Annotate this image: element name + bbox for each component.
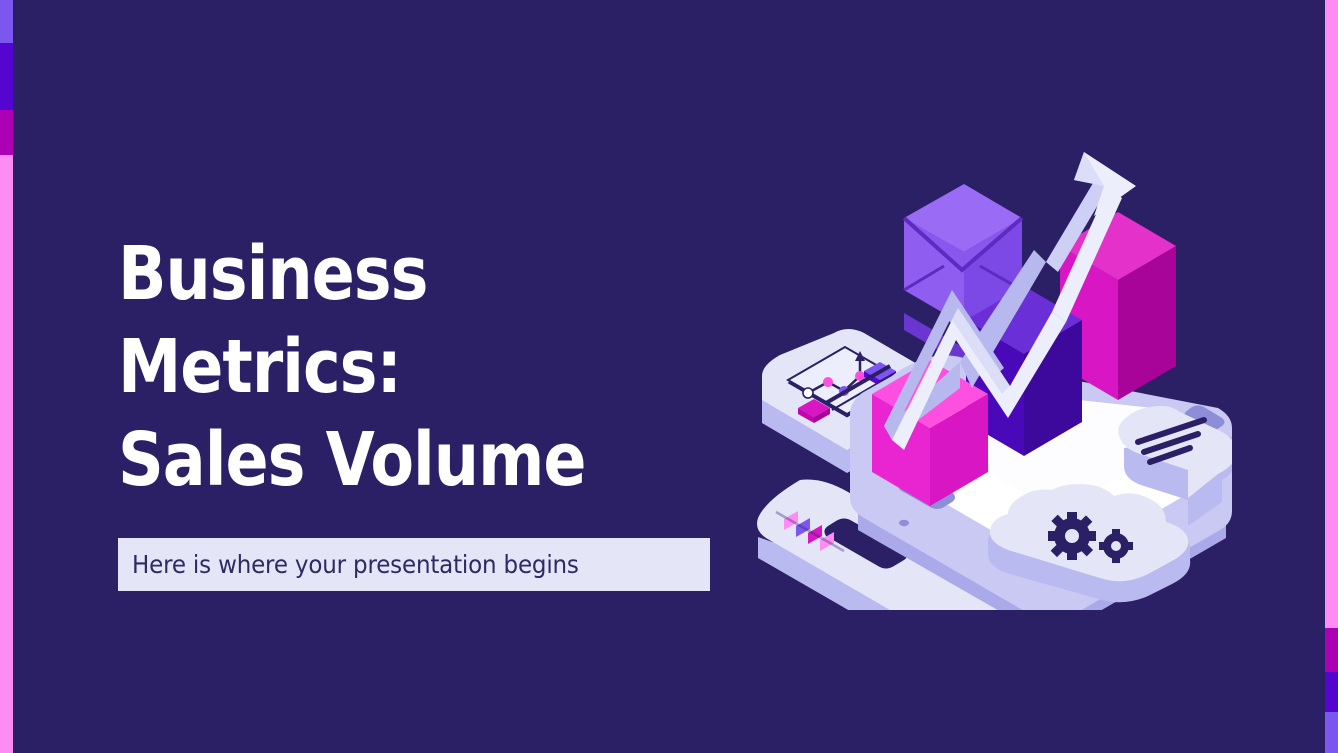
accent-segment-pink [0,155,13,753]
title-block: Business Metrics: Sales Volume Here is w… [118,228,758,591]
accent-segment-deep-violet [1325,672,1338,712]
gear-icon-large [1048,512,1096,560]
accent-segment-blue-violet [1325,712,1338,753]
accent-segment-magenta [1325,628,1338,672]
page-title: Business Metrics: Sales Volume [118,228,668,508]
accent-segment-pink [1325,0,1338,628]
accent-segment-deep-violet [0,43,13,110]
presentation-slide: Business Metrics: Sales Volume Here is w… [0,0,1338,753]
left-accent-bar [0,0,13,753]
subtitle-text: Here is where your presentation begins [132,550,579,579]
subtitle-box: Here is where your presentation begins [118,538,710,591]
isometric-business-metrics-illustration [752,140,1232,610]
accent-segment-magenta [0,110,13,155]
right-accent-bar [1325,0,1338,753]
accent-segment-blue-violet [0,0,13,43]
